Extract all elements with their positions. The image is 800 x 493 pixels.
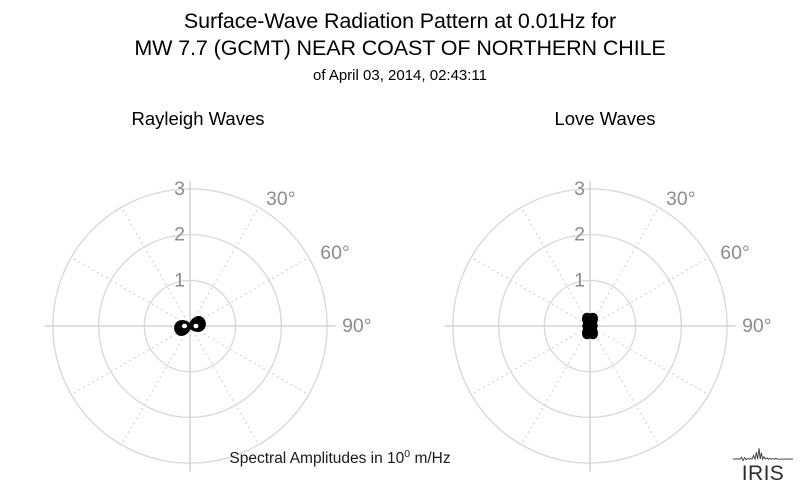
figure-canvas: Surface-Wave Radiation Pattern at 0.01Hz… [0, 0, 800, 493]
radial-tick-label-3: 3 [574, 178, 585, 200]
grid-spoke-240deg [471, 326, 590, 395]
angular-tick-label-60: 60° [720, 242, 750, 264]
grid-spoke-120deg [590, 326, 709, 395]
grid-spoke-30deg [190, 207, 259, 326]
grid-spoke-300deg [471, 257, 590, 326]
iris-logo: IRIS [731, 446, 795, 488]
angular-tick-label-30: 30° [666, 188, 696, 210]
grid-spoke-150deg [190, 326, 259, 445]
grid-spoke-120deg [190, 326, 309, 395]
radiation-pattern-outline [583, 313, 598, 338]
svg-text:IRIS: IRIS [742, 462, 784, 485]
figure-title-line-1: Surface-Wave Radiation Pattern at 0.01Hz… [0, 8, 800, 35]
figure-subtitle: of April 03, 2014, 02:43:11 [0, 65, 800, 87]
grid-spoke-210deg [121, 326, 190, 445]
grid-spoke-150deg [590, 326, 659, 445]
radial-tick-label-1: 1 [174, 269, 185, 291]
grid-spoke-60deg [190, 257, 309, 326]
radiation-pattern-love [583, 313, 598, 338]
panel-title-love: Love Waves [405, 108, 800, 130]
figure-title-line-2: MW 7.7 (GCMT) NEAR COAST OF NORTHERN CHI… [0, 35, 800, 62]
radial-tick-label-2: 2 [174, 224, 185, 246]
panel-title-rayleigh: Rayleigh Waves [0, 108, 398, 130]
radiation-pattern-node-1 [193, 324, 198, 329]
angular-tick-label-90: 90° [342, 315, 372, 337]
panel-rayleigh-waves: Rayleigh Waves 12330°60°90° [0, 108, 400, 448]
radial-tick-label-1: 1 [574, 269, 585, 291]
polar-plot-rayleigh: 12330°60°90° [0, 134, 400, 448]
iris-logo-waveform [733, 448, 793, 460]
iris-logo-wordmark: IRIS [742, 462, 784, 485]
caption-text-before: Spectral Amplitudes in 10 [229, 450, 404, 467]
figure-title-block: Surface-Wave Radiation Pattern at 0.01Hz… [0, 8, 800, 87]
caption-text-after: m/Hz [410, 450, 450, 467]
grid-spoke-210deg [521, 326, 590, 445]
radial-tick-label-3: 3 [174, 178, 185, 200]
radial-tick-label-2: 2 [574, 224, 585, 246]
radiation-pattern-node-0 [182, 324, 187, 329]
angular-tick-label-30: 30° [266, 188, 296, 210]
grid-spoke-60deg [590, 257, 709, 326]
angular-tick-label-60: 60° [320, 242, 350, 264]
panel-love-waves: Love Waves 12330°60°90° [400, 108, 800, 448]
angular-tick-label-90: 90° [742, 315, 772, 337]
grid-spoke-300deg [71, 257, 190, 326]
figure-caption: Spectral Amplitudes in 100 m/Hz [0, 448, 680, 468]
polar-plot-love: 12330°60°90° [400, 134, 800, 448]
grid-spoke-30deg [590, 207, 659, 326]
grid-spoke-240deg [71, 326, 190, 395]
